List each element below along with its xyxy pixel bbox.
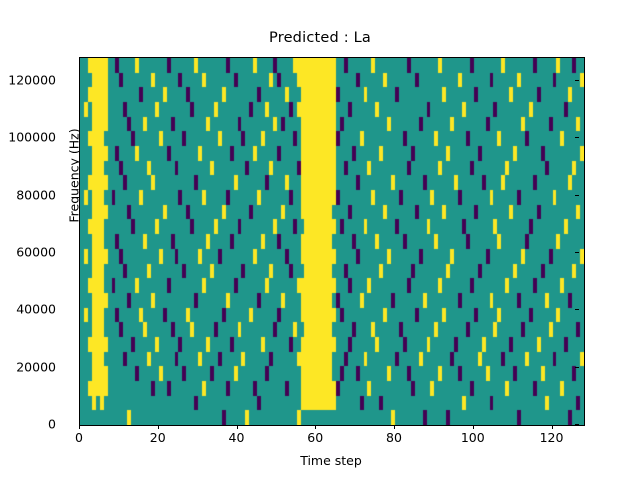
- spectrogram-heatmap: [80, 58, 584, 425]
- x-tick-mark: [158, 425, 159, 429]
- x-tick-mark: [552, 425, 553, 429]
- x-axis-label: Time step: [79, 453, 583, 468]
- x-tick-label: 20: [150, 430, 166, 445]
- x-tick-mark: [79, 425, 80, 429]
- page-title: Predicted : La: [0, 30, 640, 46]
- y-tick-mark: [575, 367, 579, 368]
- y-tick-label: 120000: [8, 72, 56, 87]
- x-tick-mark: [315, 425, 316, 429]
- x-tick-mark: [237, 425, 238, 429]
- y-tick-label: 60000: [16, 244, 56, 259]
- x-tick-label: 80: [386, 430, 402, 445]
- y-tick-mark: [575, 195, 579, 196]
- y-tick-mark: [575, 309, 579, 310]
- y-tick-mark: [575, 80, 579, 81]
- y-tick-mark: [575, 137, 579, 138]
- x-tick-label: 60: [307, 430, 323, 445]
- y-tick-label: 0: [48, 417, 56, 432]
- y-tick-mark: [575, 424, 579, 425]
- heatmap-axes: [79, 57, 585, 426]
- y-tick-label: 40000: [16, 302, 56, 317]
- x-tick-label: 120: [540, 430, 564, 445]
- y-tick-label: 80000: [16, 187, 56, 202]
- y-tick-label: 100000: [8, 130, 56, 145]
- x-tick-mark: [394, 425, 395, 429]
- y-tick-label: 20000: [16, 359, 56, 374]
- y-tick-mark: [575, 252, 579, 253]
- x-tick-mark: [473, 425, 474, 429]
- x-tick-label: 100: [461, 430, 485, 445]
- matplotlib-figure: Predicted : La Frequency (Hz) Time step …: [0, 0, 640, 480]
- x-tick-label: 0: [75, 430, 83, 445]
- x-tick-label: 40: [229, 430, 245, 445]
